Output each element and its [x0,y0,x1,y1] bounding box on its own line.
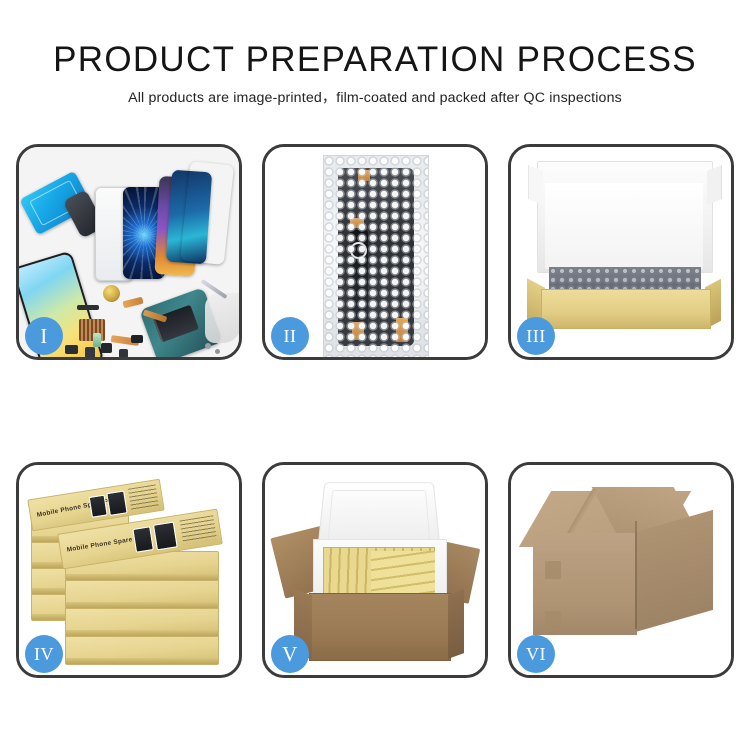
carton-tape-tab-2 [545,611,561,627]
carton-body-graphic [309,593,451,661]
page-title: PRODUCT PREPARATION PROCESS [0,42,750,77]
box-screen-artwork [132,526,154,553]
step-badge-3: III [517,317,555,355]
step-card-1: I [16,144,242,360]
step-card-3: III [508,144,734,360]
carton-tape-tab-1 [545,561,561,579]
screw-graphic-1 [205,343,211,349]
box-spec-lines [128,484,159,510]
step-card-5: V [262,462,488,678]
chip-graphic-1 [65,345,78,354]
earpiece-mesh-graphic [77,305,99,310]
camera-module-graphic [93,333,101,347]
step-card-6: VI [508,462,734,678]
logic-board-graphic [79,319,105,341]
flex-cable-graphic-1 [122,297,143,309]
chip-graphic-3 [101,343,112,353]
box-spec-lines [180,515,217,544]
carton-side-face-graphic [635,510,713,632]
chip-graphic-5 [131,335,143,343]
step-card-2: II [262,144,488,360]
yellow-boxes-row-graphic-2 [371,551,435,595]
step-badge-2: II [271,317,309,355]
carton-edge-seam [635,521,637,629]
step-badge-4: IV [25,635,63,673]
step-badge-6: VI [517,635,555,673]
step-badge-5: V [271,635,309,673]
bubble-texture [324,156,428,357]
chip-graphic-2 [85,347,95,357]
box-screen-artwork [106,490,127,516]
box-screen-artwork [89,495,108,518]
stacked-box-layer [65,579,219,609]
stacked-box-layer [65,635,219,665]
flagship-phone-graphic [180,161,234,265]
process-steps-grid: I II [16,144,734,678]
header: PRODUCT PREPARATION PROCESS All products… [0,42,750,105]
hand-graphic [205,293,239,343]
inner-box-front-graphic [541,289,711,329]
step-card-4: Mobile Phone Spare Parts Mobile Phone Sp… [16,462,242,678]
box-screen-artwork [153,522,178,551]
speaker-coil-graphic [103,285,120,302]
product-preparation-infographic: PRODUCT PREPARATION PROCESS All products… [0,0,750,750]
bubble-wrap-bag-graphic [323,155,429,357]
screw-graphic-2 [215,349,220,354]
inner-box-foam-graphic [545,183,703,269]
page-subtitle: All products are image-printed，film-coat… [0,91,750,105]
stacked-box-layer [65,607,219,637]
chip-graphic-4 [119,349,128,357]
step-badge-1: I [25,317,63,355]
